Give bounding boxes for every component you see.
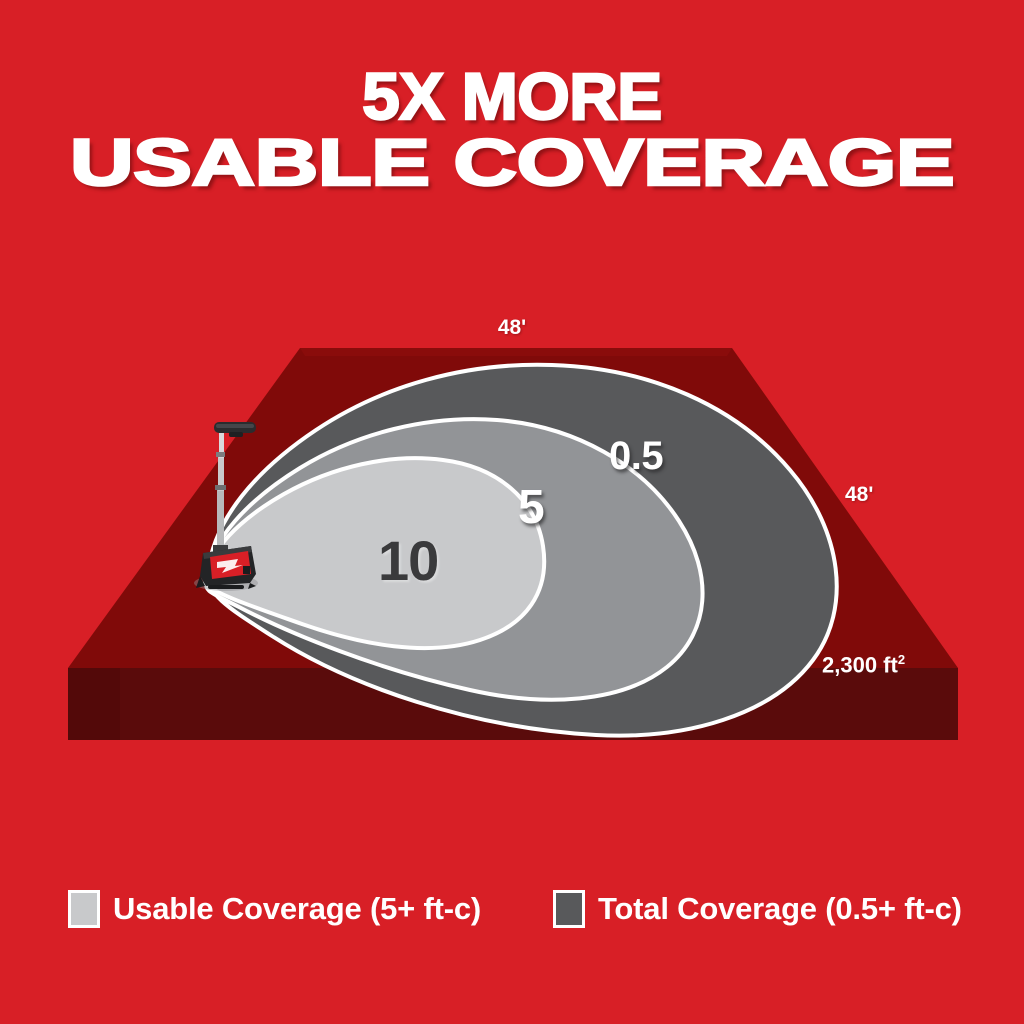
coverage-infographic: 5X MORE USABLE COVERAGE: [0, 0, 1024, 1024]
zone-label-10: 10: [378, 533, 438, 589]
zone-label-0-5: 0.5: [609, 436, 663, 476]
legend-item-total-coverage: Total Coverage (0.5+ ft-c): [553, 888, 962, 930]
coverage-diagram: [0, 0, 1024, 1024]
platform-front-edge-shadow: [68, 668, 120, 740]
area-value: 2,300 ft: [822, 652, 898, 677]
dimension-label-right: 48': [845, 483, 873, 507]
legend-swatch-total-coverage: [553, 890, 585, 928]
area-label: 2,300 ft2: [822, 652, 905, 678]
zone-label-5: 5: [518, 484, 545, 532]
platform-top-highlight: [300, 348, 732, 356]
legend-item-usable-coverage: Usable Coverage (5+ ft-c): [68, 888, 481, 930]
legend-label-usable-coverage: Usable Coverage (5+ ft-c): [113, 891, 481, 927]
legend: Usable Coverage (5+ ft-c) Total Coverage…: [68, 888, 968, 938]
legend-label-total-coverage: Total Coverage (0.5+ ft-c): [598, 891, 962, 927]
area-exponent: 2: [898, 652, 905, 667]
legend-swatch-usable-coverage: [68, 890, 100, 928]
dimension-label-top: 48': [0, 316, 1024, 340]
